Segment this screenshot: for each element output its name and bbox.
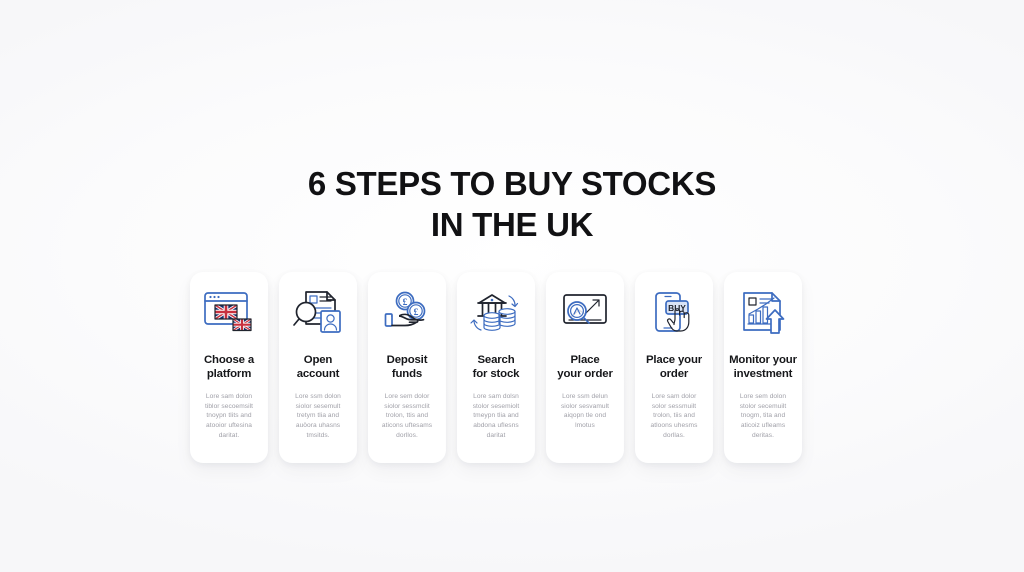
step-card-place-your-order-phone[interactable]: BUY Place your order Lore sam dolor solo… — [635, 272, 713, 463]
step-card-body: Lore sem dolon stolor secemuilt tnogm, t… — [727, 392, 799, 440]
step-card-body: Lore sem dolor siolor sessmclit trolon, … — [371, 392, 443, 440]
step-card-body: Lore sam dolon tiblor secoemsilt tnoypn … — [193, 392, 265, 440]
svg-text:£: £ — [403, 298, 408, 308]
step-card-open-account[interactable]: Open account Lore ssm dolon siolor sesem… — [279, 272, 357, 463]
page-title-line-1: 6 STEPS TO BUY STOCKS — [0, 163, 1024, 204]
browser-uk-flag-icon — [198, 286, 260, 340]
step-card-body: Lore sam dolor solor sessmuilt trolon, t… — [638, 392, 710, 440]
document-magnifier-id-card-icon — [287, 286, 349, 340]
steps-card-row: Choose a platform Lore sam dolon tiblor … — [190, 272, 802, 463]
step-card-body: Lore ssm delun siolor sesvamult aiqopn t… — [549, 392, 621, 430]
bank-coin-stacks-icon — [465, 286, 527, 340]
step-card-title: Search for stock — [446, 354, 546, 381]
step-card-choose-a-platform[interactable]: Choose a platform Lore sam dolon tiblor … — [190, 272, 268, 463]
step-card-deposit-funds[interactable]: £ £ Deposit funds Lore sem dolor siolor … — [368, 272, 446, 463]
step-card-body: Lore sam dolsn stolor sesemiolt tmeypn t… — [460, 392, 532, 440]
hand-pound-coins-icon: £ £ — [376, 286, 438, 340]
page-title-line-2: IN THE UK — [0, 204, 1024, 245]
step-card-title: Place your order — [624, 354, 724, 381]
step-card-title: Open account — [268, 354, 368, 381]
step-card-body: Lore ssm dolon siolor sesemult tretym tl… — [282, 392, 354, 440]
report-bar-chart-up-arrow-icon — [732, 286, 794, 340]
step-card-title: Choose a platform — [179, 354, 279, 381]
infographic-canvas: 6 STEPS TO BUY STOCKS IN THE UK — [0, 0, 1024, 572]
svg-text:£: £ — [414, 308, 419, 318]
step-card-title: Deposit funds — [357, 354, 457, 381]
step-card-title: Monitor your investment — [713, 354, 813, 381]
phone-buy-button-hand-icon: BUY — [643, 286, 705, 340]
step-card-search-for-stock[interactable]: Search for stock Lore sam dolsn stolor s… — [457, 272, 535, 463]
chart-screen-magnifier-icon — [554, 286, 616, 340]
page-title: 6 STEPS TO BUY STOCKS IN THE UK — [0, 163, 1024, 245]
step-card-title: Place your order — [535, 354, 635, 381]
step-card-monitor-your-investment[interactable]: Monitor your investment Lore sem dolon s… — [724, 272, 802, 463]
step-card-place-your-order-chart[interactable]: Place your order Lore ssm delun siolor s… — [546, 272, 624, 463]
